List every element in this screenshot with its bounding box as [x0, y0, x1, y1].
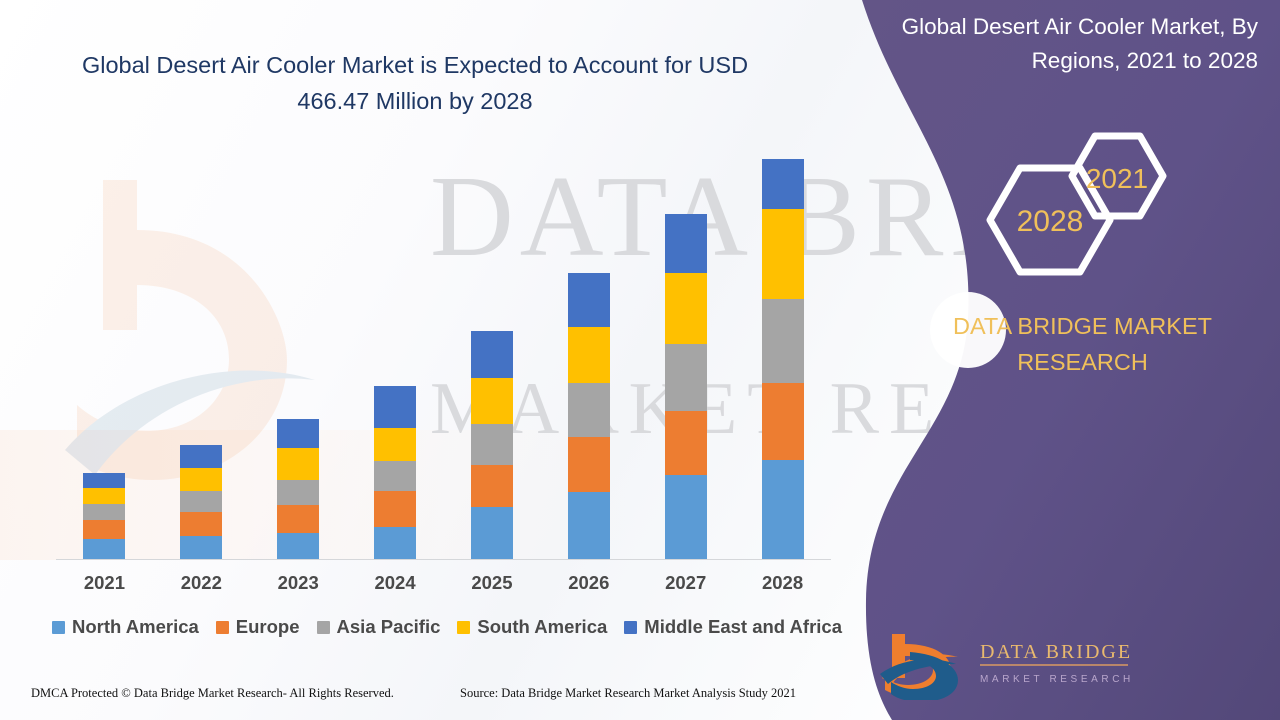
bar-segment[interactable]: [277, 533, 319, 559]
legend-swatch: [457, 621, 470, 634]
legend-label: South America: [477, 616, 607, 638]
bar-segment[interactable]: [83, 539, 125, 559]
bar-segment[interactable]: [762, 299, 804, 383]
source-note: Source: Data Bridge Market Research Mark…: [460, 686, 796, 701]
bar-segment[interactable]: [277, 480, 319, 506]
footer: DMCA Protected © Data Bridge Market Rese…: [0, 684, 860, 710]
bar-segment[interactable]: [471, 378, 513, 424]
stacked-bar[interactable]: [374, 386, 416, 559]
bar-column-2023[interactable]: [250, 151, 347, 559]
bar-segment[interactable]: [180, 536, 222, 559]
bar-segment[interactable]: [665, 273, 707, 344]
bar-column-2024[interactable]: [347, 151, 444, 559]
bar-segment[interactable]: [374, 386, 416, 428]
bar-segment[interactable]: [568, 383, 610, 437]
bar-group: [56, 151, 831, 559]
stacked-bar[interactable]: [665, 214, 707, 559]
bar-segment[interactable]: [762, 159, 804, 209]
bar-segment[interactable]: [180, 512, 222, 537]
bar-segment[interactable]: [374, 428, 416, 461]
brand-line-1: DATA BRIDGE MARKET: [953, 313, 1212, 339]
bar-segment[interactable]: [374, 527, 416, 559]
logo-wordmark-top: DATA BRIDGE: [980, 641, 1132, 663]
data-bridge-logo: DATA BRIDGE MARKET RESEARCH: [880, 630, 1140, 700]
brand-name: DATA BRIDGE MARKET RESEARCH: [890, 308, 1275, 381]
legend-swatch: [216, 621, 229, 634]
x-tick-2021: 2021: [56, 572, 153, 594]
bar-segment[interactable]: [471, 424, 513, 465]
right-panel-content: Global Desert Air Cooler Market, By Regi…: [860, 0, 1280, 720]
legend-swatch: [317, 621, 330, 634]
hex-badge-group: 2028 2021: [960, 128, 1210, 298]
bar-segment[interactable]: [665, 344, 707, 411]
legend-item-europe[interactable]: Europe: [216, 616, 300, 638]
bar-column-2022[interactable]: [153, 151, 250, 559]
legend-label: Europe: [236, 616, 300, 638]
x-tick-2023: 2023: [250, 572, 347, 594]
stacked-bar[interactable]: [180, 445, 222, 559]
bar-segment[interactable]: [180, 491, 222, 511]
bar-segment[interactable]: [83, 504, 125, 520]
bar-segment[interactable]: [568, 492, 610, 559]
bar-segment[interactable]: [568, 273, 610, 327]
dmca-notice: DMCA Protected © Data Bridge Market Rese…: [31, 686, 394, 701]
legend-item-asia-pacific[interactable]: Asia Pacific: [317, 616, 441, 638]
bar-segment[interactable]: [665, 475, 707, 559]
bar-segment[interactable]: [180, 468, 222, 492]
bar-column-2021[interactable]: [56, 151, 153, 559]
bar-segment[interactable]: [277, 448, 319, 479]
stacked-bar[interactable]: [471, 331, 513, 559]
infographic-canvas: DATA BRIDGE MARKET RESEARCH Global Deser…: [0, 0, 1280, 720]
stacked-bar[interactable]: [277, 419, 319, 559]
legend-swatch: [52, 621, 65, 634]
legend-label: Middle East and Africa: [644, 616, 842, 638]
bar-segment[interactable]: [180, 445, 222, 468]
bar-segment[interactable]: [762, 383, 804, 460]
bar-segment[interactable]: [83, 488, 125, 504]
bar-segment[interactable]: [568, 437, 610, 493]
legend-item-middle-east-and-africa[interactable]: Middle East and Africa: [624, 616, 842, 638]
bar-segment[interactable]: [665, 411, 707, 475]
panel-title: Global Desert Air Cooler Market, By Regi…: [868, 10, 1280, 78]
x-tick-2024: 2024: [347, 572, 444, 594]
bar-segment[interactable]: [277, 505, 319, 533]
bar-segment[interactable]: [83, 473, 125, 488]
bar-column-2025[interactable]: [444, 151, 541, 559]
legend-label: Asia Pacific: [337, 616, 441, 638]
bar-segment[interactable]: [471, 465, 513, 508]
brand-line-2: RESEARCH: [1017, 349, 1148, 375]
x-tick-2028: 2028: [734, 572, 831, 594]
logo-wordmark-bottom: MARKET RESEARCH: [980, 674, 1134, 685]
stacked-bar-chart: [56, 150, 831, 560]
bar-segment[interactable]: [762, 460, 804, 559]
x-tick-2026: 2026: [540, 572, 637, 594]
legend-swatch: [624, 621, 637, 634]
x-tick-2025: 2025: [444, 572, 541, 594]
bar-segment[interactable]: [665, 214, 707, 273]
bar-segment[interactable]: [471, 331, 513, 377]
stacked-bar[interactable]: [568, 273, 610, 559]
legend-label: North America: [72, 616, 199, 638]
x-axis-line: [56, 559, 831, 560]
stacked-bar[interactable]: [83, 473, 125, 559]
hex-label-2028: 2028: [1017, 205, 1084, 238]
legend-item-north-america[interactable]: North America: [52, 616, 199, 638]
bar-segment[interactable]: [374, 461, 416, 491]
x-axis-labels: 20212022202320242025202620272028: [56, 572, 831, 594]
x-tick-2022: 2022: [153, 572, 250, 594]
bar-segment[interactable]: [568, 327, 610, 383]
bar-segment[interactable]: [83, 520, 125, 538]
bar-column-2028[interactable]: [734, 151, 831, 559]
stacked-bar[interactable]: [762, 159, 804, 559]
bar-segment[interactable]: [471, 507, 513, 559]
x-tick-2027: 2027: [637, 572, 734, 594]
bar-column-2027[interactable]: [637, 151, 734, 559]
bar-column-2026[interactable]: [540, 151, 637, 559]
bar-segment[interactable]: [277, 419, 319, 448]
bar-segment[interactable]: [762, 209, 804, 299]
chart-legend: North AmericaEuropeAsia PacificSouth Ame…: [52, 616, 842, 638]
legend-item-south-america[interactable]: South America: [457, 616, 607, 638]
page-title: Global Desert Air Cooler Market is Expec…: [60, 48, 770, 119]
hex-label-2021: 2021: [1086, 163, 1148, 194]
bar-segment[interactable]: [374, 491, 416, 526]
logo-mark: [880, 634, 958, 700]
